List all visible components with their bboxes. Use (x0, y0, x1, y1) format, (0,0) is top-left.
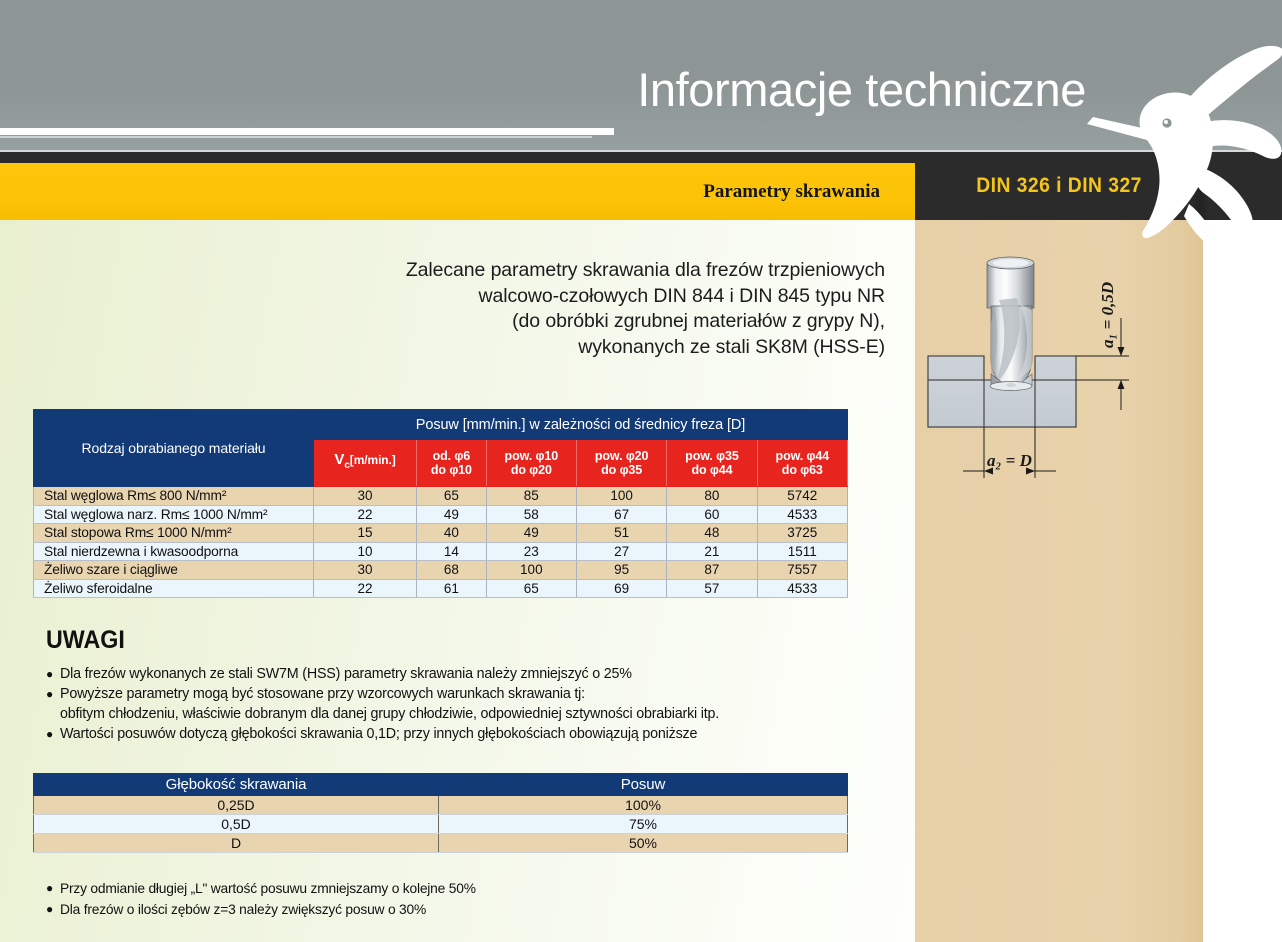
intro-line-1: Zalecane parametry skrawania dla frezów … (330, 258, 885, 284)
dimension-label-vertical: a₁ = 0,5D (1098, 282, 1117, 348)
cell-feed: 100% (439, 796, 848, 815)
cell-d4: 80 (667, 487, 757, 506)
cell-d2: 65 (486, 579, 576, 598)
d5-line2: do φ63 (758, 463, 847, 478)
vc-symbol: Vc (334, 451, 349, 468)
notes-title: UWAGI (46, 626, 125, 655)
depth-column-header: Głębokość skrawania (34, 774, 439, 796)
header-rule-secondary (0, 136, 592, 138)
cell-vc: 10 (314, 542, 417, 561)
d2-line2: do φ20 (487, 463, 576, 478)
cutting-parameters-table: Rodzaj obrabianego materiału Posuw [mm/m… (33, 409, 848, 598)
cell-d1: 68 (417, 561, 487, 580)
intro-text: Zalecane parametry skrawania dla frezów … (330, 258, 885, 360)
note-item: ● Wartości posuwów dotyczą głębokości sk… (46, 724, 866, 744)
page-header-band: Informacje techniczne (0, 0, 1282, 152)
note-text: Powyższe parametry mogą być stosowane pr… (60, 684, 585, 704)
cell-vc: 22 (314, 579, 417, 598)
cell-d4: 87 (667, 561, 757, 580)
cell-material: Stal nierdzewna i kwasoodporna (34, 542, 314, 561)
cell-d4: 57 (667, 579, 757, 598)
cell-d1: 40 (417, 524, 487, 543)
cell-d5: 5742 (757, 487, 847, 506)
cell-d1: 61 (417, 579, 487, 598)
bullet-icon: ● (46, 724, 60, 744)
column-header-d3: pow. φ20 do φ35 (576, 440, 666, 487)
footnote-text: Dla frezów o ilości zębów z=3 należy zwi… (60, 899, 426, 920)
cell-d1: 14 (417, 542, 487, 561)
cell-d5: 4533 (757, 505, 847, 524)
cell-d5: 1511 (757, 542, 847, 561)
cell-feed: 50% (439, 834, 848, 853)
section-label: Parametry skrawania (703, 181, 880, 203)
cell-material: Stal węglowa Rm≤ 800 N/mm² (34, 487, 314, 506)
cell-d3: 67 (576, 505, 666, 524)
cell-material: Żeliwo szare i ciągliwe (34, 561, 314, 580)
d1-line1: od. φ6 (417, 449, 486, 464)
note-continuation: obfitym chłodzeniu, właściwie dobranym d… (46, 704, 866, 724)
note-item: ● Powyższe parametry mogą być stosowane … (46, 684, 866, 704)
page-root: Informacje techniczne Parametry skrawani… (0, 0, 1282, 942)
bullet-icon: ● (46, 664, 60, 684)
column-header-d4: pow. φ35 do φ44 (667, 440, 757, 487)
cell-d5: 3725 (757, 524, 847, 543)
cell-vc: 22 (314, 505, 417, 524)
cell-vc: 30 (314, 561, 417, 580)
column-header-vc: Vc[m/min.] (314, 440, 417, 487)
cell-d3: 100 (576, 487, 666, 506)
banner-section-bar: Parametry skrawania (0, 163, 915, 220)
cell-depth: 0,25D (34, 796, 439, 815)
cell-depth: D (34, 834, 439, 853)
cell-d3: 27 (576, 542, 666, 561)
column-header-material: Rodzaj obrabianego materiału (34, 410, 314, 487)
column-header-d2: pow. φ10 do φ20 (486, 440, 576, 487)
end-mill-tool (987, 257, 1034, 391)
cell-d5: 4533 (757, 579, 847, 598)
cell-material: Stal stopowa Rm≤ 1000 N/mm² (34, 524, 314, 543)
cell-d1: 65 (417, 487, 487, 506)
d5-line1: pow. φ44 (758, 449, 847, 464)
column-header-d5: pow. φ44 do φ63 (757, 440, 847, 487)
bullet-icon: ● (46, 899, 60, 919)
cell-d4: 48 (667, 524, 757, 543)
intro-line-4: wykonanych ze stali SK8M (HSS-E) (330, 335, 885, 361)
cell-d3: 69 (576, 579, 666, 598)
standard-label: DIN 326 i DIN 327 (976, 174, 1142, 198)
cell-d5: 7557 (757, 561, 847, 580)
header-rule (0, 128, 614, 135)
cell-vc: 15 (314, 524, 417, 543)
cell-d2: 58 (486, 505, 576, 524)
cell-material: Stal węglowa narz. Rm≤ 1000 N/mm² (34, 505, 314, 524)
note-item: ● Dla frezów wykonanych ze stali SW7M (H… (46, 664, 866, 684)
d4-line1: pow. φ35 (667, 449, 756, 464)
cell-feed: 75% (439, 815, 848, 834)
d3-line2: do φ35 (577, 463, 666, 478)
footnote-text: Przy odmianie długiej „L" wartość posuwu… (60, 878, 476, 899)
cell-d2: 49 (486, 524, 576, 543)
page-title: Informacje techniczne (637, 62, 1086, 117)
column-header-d1: od. φ6 do φ10 (417, 440, 487, 487)
intro-line-2: walcowo-czołowych DIN 844 i DIN 845 typu… (330, 284, 885, 310)
table-row: Stal węglowa Rm≤ 800 N/mm² 30 65 85 100 … (34, 487, 848, 506)
note-text: Wartości posuwów dotyczą głębokości skra… (60, 724, 697, 744)
cell-material: Żeliwo sferoidalne (34, 579, 314, 598)
table-row: Stal nierdzewna i kwasoodporna 10 14 23 … (34, 542, 848, 561)
cell-d2: 100 (486, 561, 576, 580)
cell-d2: 23 (486, 542, 576, 561)
table-row: Stal węglowa narz. Rm≤ 1000 N/mm² 22 49 … (34, 505, 848, 524)
footnotes-list: ● Przy odmianie długiej „L" wartość posu… (46, 878, 866, 920)
depth-feed-table: Głębokość skrawania Posuw 0,25D 100% 0,5… (33, 773, 848, 853)
table-row: Żeliwo szare i ciągliwe 30 68 100 95 87 … (34, 561, 848, 580)
vc-unit: [m/min.] (350, 453, 396, 467)
table-row: 0,5D 75% (34, 815, 848, 834)
cell-vc: 30 (314, 487, 417, 506)
notes-list: ● Dla frezów wykonanych ze stali SW7M (H… (46, 664, 866, 744)
cell-d2: 85 (486, 487, 576, 506)
d4-line2: do φ44 (667, 463, 756, 478)
note-text: Dla frezów wykonanych ze stali SW7M (HSS… (60, 664, 632, 684)
column-group-header-feed: Posuw [mm/min.] w zależności od średnicy… (314, 410, 848, 440)
cell-d4: 21 (667, 542, 757, 561)
table-row: Żeliwo sferoidalne 22 61 65 69 57 4533 (34, 579, 848, 598)
cell-depth: 0,5D (34, 815, 439, 834)
footnote-item: ● Przy odmianie długiej „L" wartość posu… (46, 878, 866, 899)
d3-line1: pow. φ20 (577, 449, 666, 464)
bullet-icon: ● (46, 684, 60, 704)
table-row: 0,25D 100% (34, 796, 848, 815)
dimension-label-horizontal: a₂ = D (987, 451, 1032, 470)
table-row: D 50% (34, 834, 848, 853)
footnote-item: ● Dla frezów o ilości zębów z=3 należy z… (46, 899, 866, 920)
table-row: Stal stopowa Rm≤ 1000 N/mm² 15 40 49 51 … (34, 524, 848, 543)
banner-standard-box: DIN 326 i DIN 327 (915, 152, 1203, 220)
cell-d3: 51 (576, 524, 666, 543)
d1-line2: do φ10 (417, 463, 486, 478)
cell-d3: 95 (576, 561, 666, 580)
cell-d1: 49 (417, 505, 487, 524)
d2-line1: pow. φ10 (487, 449, 576, 464)
end-mill-cutting-diagram: a₁ = 0,5D a₂ = D (925, 240, 1195, 515)
feed-column-header: Posuw (439, 774, 848, 796)
cell-d4: 60 (667, 505, 757, 524)
intro-line-3: (do obróbki zgrubnej materiałów z grypy … (330, 309, 885, 335)
bullet-icon: ● (46, 878, 60, 898)
